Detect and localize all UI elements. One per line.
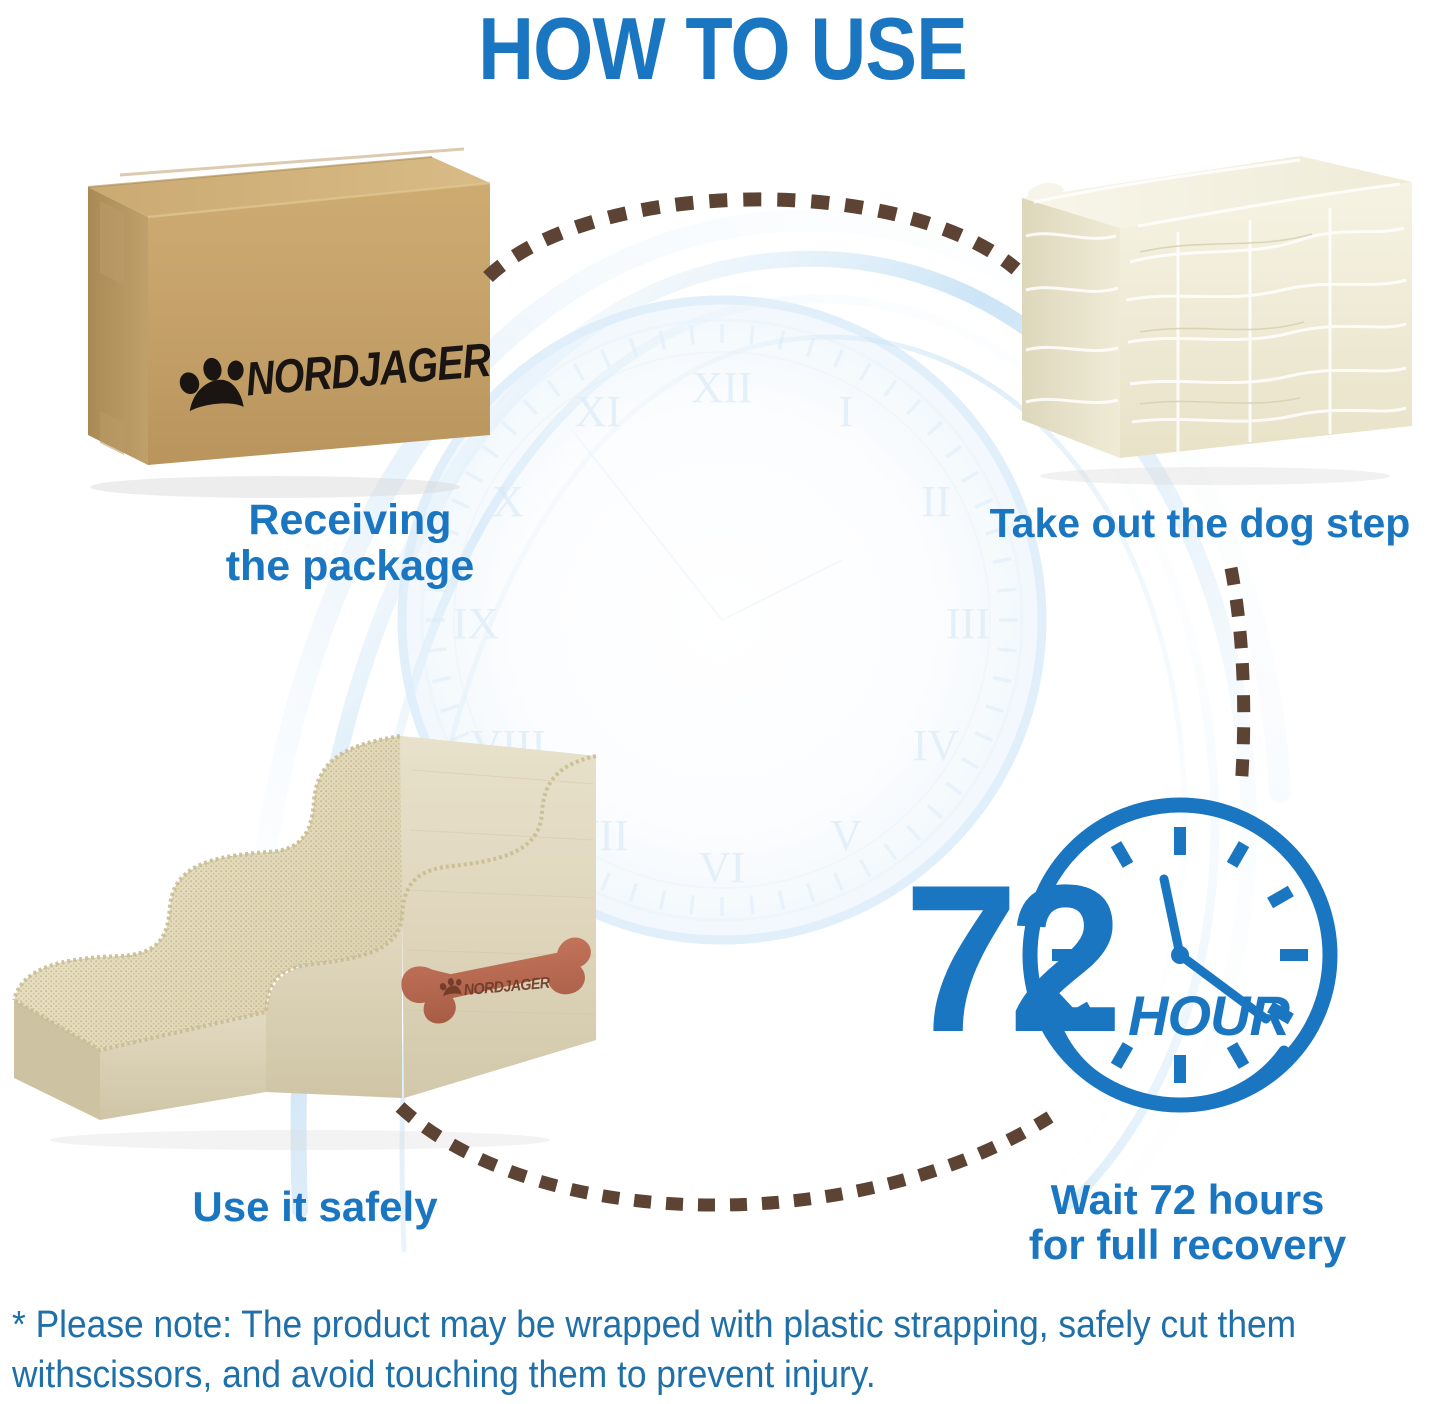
page-title: HOW TO USE xyxy=(87,0,1359,100)
svg-text:IV: IV xyxy=(913,721,960,770)
caption-take-out-the-dog-step: Take out the dog step xyxy=(955,502,1445,545)
plastic-wrapped-package-art xyxy=(1000,140,1430,485)
svg-text:XI: XI xyxy=(575,387,621,436)
svg-text:VI: VI xyxy=(699,843,745,892)
clock-unit-label: HOUR xyxy=(1128,984,1290,1047)
clock-number: 72 xyxy=(904,842,1116,1076)
svg-text:IX: IX xyxy=(453,599,499,648)
svg-text:III: III xyxy=(946,599,990,648)
svg-text:I: I xyxy=(839,387,854,436)
footer-note-text: Please note: The product may be wrapped … xyxy=(12,1304,1296,1396)
cardboard-box-art: NORDJAGER xyxy=(60,135,500,500)
caption-wait-72-hours: Wait 72 hours for full recovery xyxy=(990,1178,1385,1267)
caption-receiving-the-package: Receiving the package xyxy=(150,498,550,589)
flow-arrow-top xyxy=(480,165,1025,285)
flow-arrow-bottom xyxy=(390,1095,1060,1240)
dog-step-art: NORDJAGER xyxy=(0,700,640,1155)
clock-72-hour-art: 72 HOUR xyxy=(900,785,1350,1125)
caption-use-it-safely: Use it safely xyxy=(140,1185,490,1230)
svg-text:V: V xyxy=(830,811,862,860)
svg-text:II: II xyxy=(921,477,950,526)
flow-arrow-right xyxy=(1175,560,1305,795)
footer-note-marker: * xyxy=(12,1304,26,1346)
infographic-canvas: XII I II III IV V VI VII VIII IX X XI xyxy=(0,0,1445,1404)
svg-text:XII: XII xyxy=(691,363,752,412)
footer-note: * Please note: The product may be wrappe… xyxy=(12,1300,1333,1400)
